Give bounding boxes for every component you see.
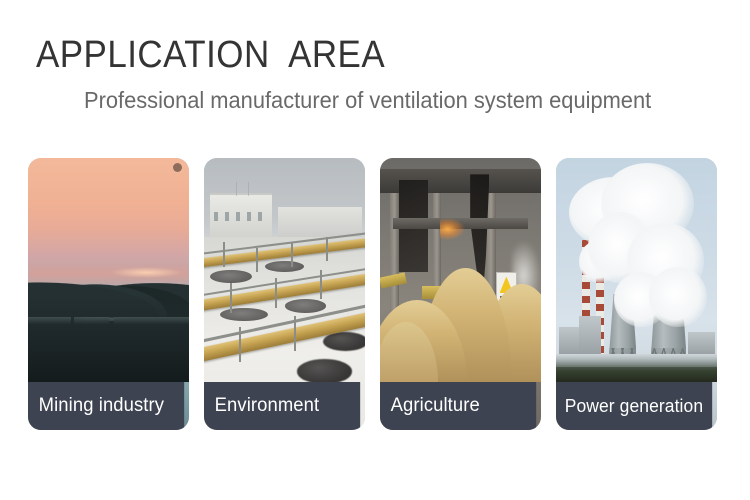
page-subtitle: Professional manufacturer of ventilation…: [84, 85, 651, 115]
application-card-label: Mining industry: [28, 382, 184, 430]
application-card-mining-industry[interactable]: Mining industry: [28, 158, 189, 430]
application-area-section: APPLICATION AREA Professional manufactur…: [0, 0, 750, 500]
application-card-power-generation[interactable]: Power generation: [556, 158, 717, 430]
application-card-label: Environment: [204, 382, 360, 430]
image-watermark-icon: [173, 163, 182, 172]
application-card-label: Power generation: [556, 382, 712, 430]
application-card-grid: Mining industry: [28, 158, 722, 430]
application-card-agriculture[interactable]: Agriculture: [380, 158, 541, 430]
application-card-label: Agriculture: [380, 382, 536, 430]
application-card-environment[interactable]: Environment: [204, 158, 365, 430]
page-title: APPLICATION AREA: [36, 33, 385, 77]
